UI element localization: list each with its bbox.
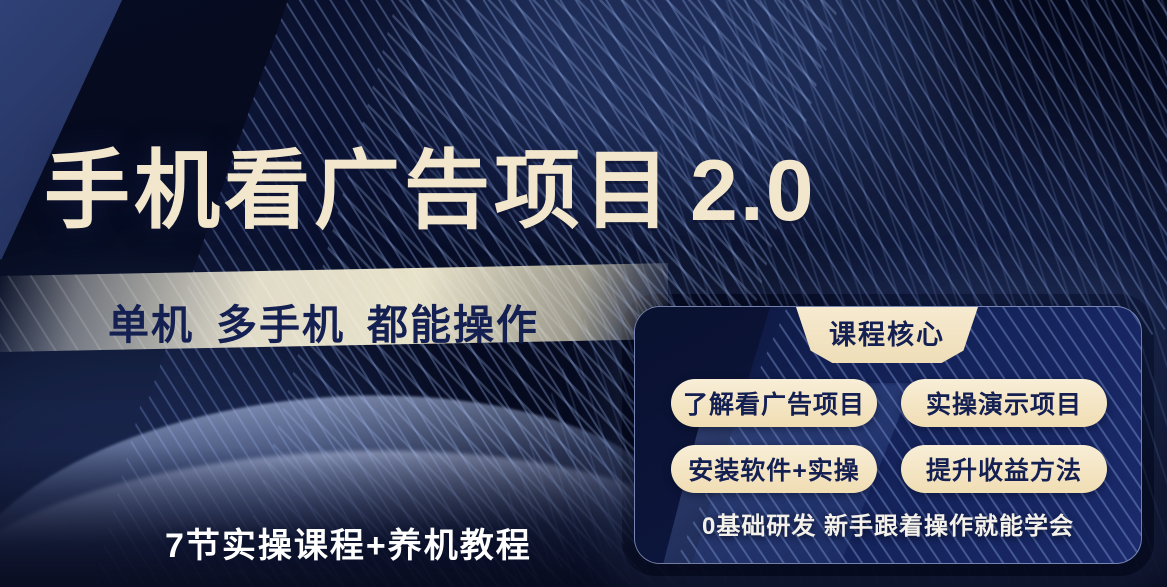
core-feature-pill-grid: 了解看广告项目 实操演示项目 安装软件+实操 提升收益方法: [671, 379, 1107, 493]
promo-banner: 手机看广告项目2.0 单机多手机都能操作 7节实操课程+养机教程 课程核心 了解…: [0, 0, 1167, 587]
banner-subtitle: 单机多手机都能操作: [108, 291, 539, 351]
banner-title-version: 2.0: [690, 143, 816, 239]
core-panel-header-label: 课程核心: [829, 313, 945, 352]
bottom-caption: 7节实操课程+养机教程: [165, 518, 532, 567]
subtitle-part-2: 多手机: [216, 302, 345, 348]
banner-title: 手机看广告项目2.0: [44, 120, 816, 245]
feature-pill-label: 了解看广告项目: [683, 385, 865, 421]
course-core-panel: 课程核心 了解看广告项目 实操演示项目 安装软件+实操 提升收益方法 0基础研发…: [634, 306, 1142, 564]
core-panel-footer-note: 0基础研发 新手跟着操作就能学会: [635, 506, 1141, 541]
feature-pill-label: 安装软件+实操: [688, 451, 860, 487]
feature-pill[interactable]: 实操演示项目: [901, 379, 1107, 427]
subtitle-part-3: 都能操作: [367, 302, 539, 348]
feature-pill-label: 实操演示项目: [926, 385, 1082, 421]
core-panel-header-tab: 课程核心: [796, 307, 978, 363]
feature-pill[interactable]: 了解看广告项目: [671, 379, 877, 427]
subtitle-part-1: 单机: [108, 302, 194, 348]
banner-title-text: 手机看广告项目: [44, 143, 674, 239]
feature-pill-label: 提升收益方法: [926, 451, 1082, 487]
feature-pill[interactable]: 安装软件+实操: [671, 445, 877, 493]
feature-pill[interactable]: 提升收益方法: [901, 445, 1107, 493]
